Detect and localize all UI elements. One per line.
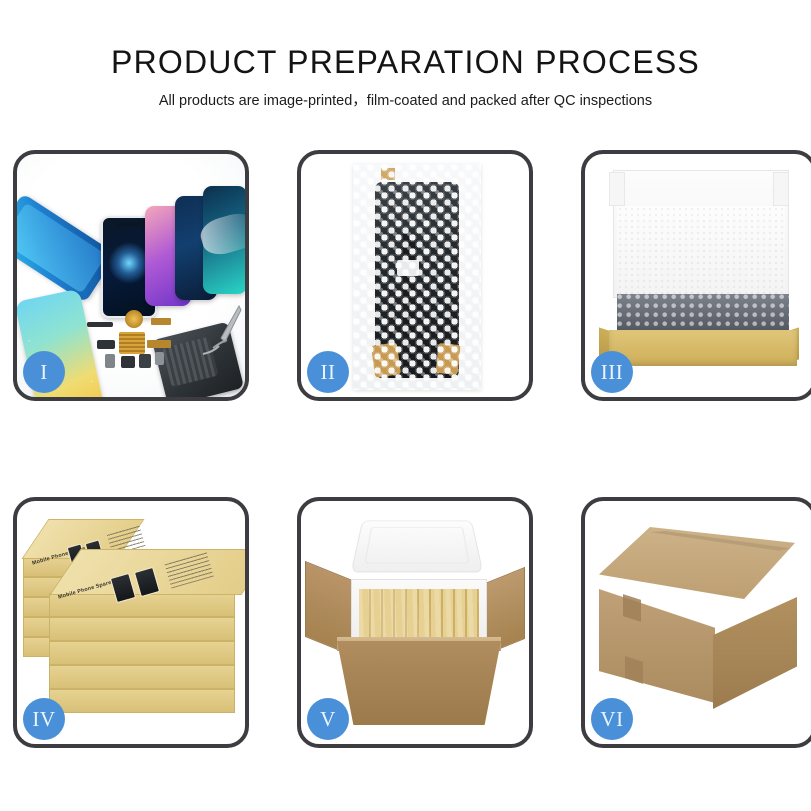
earpiece-mesh-icon: [87, 322, 113, 327]
carton-side-face: [713, 597, 797, 709]
gold-box-front-2: [49, 617, 235, 641]
process-steps-grid: I II: [13, 150, 801, 748]
bubble-wrapped-contents: [617, 294, 789, 334]
tweezers-icon: [199, 304, 243, 360]
step-badge-4: IV: [23, 698, 65, 740]
gold-boxes-highlight: [359, 589, 479, 641]
speaker-coil-icon: [125, 310, 143, 328]
step-badge-5: V: [307, 698, 349, 740]
carton-body: [337, 641, 501, 725]
header: PRODUCT PREPARATION PROCESS All products…: [0, 0, 811, 110]
camera-module-icon: [121, 356, 135, 368]
box-lid-flap-right: [773, 172, 789, 206]
foam-insert: [617, 206, 785, 294]
battery-connector-icon: [155, 352, 164, 365]
product-preparation-infographic: PRODUCT PREPARATION PROCESS All products…: [0, 0, 811, 811]
step-badge-2: II: [307, 351, 349, 393]
step-badge-1: I: [23, 351, 65, 393]
step-badge-3: III: [591, 351, 633, 393]
flex-connector-icon: [147, 340, 171, 348]
sim-tray-icon: [105, 354, 115, 368]
step-panel-6: VI: [581, 497, 811, 748]
small-module-icon: [97, 340, 115, 349]
ic-chip-array-icon: [119, 332, 145, 354]
gold-box-front-3: [49, 641, 235, 665]
step-panel-1: I: [13, 150, 249, 401]
gold-box-front-4: [49, 665, 235, 689]
page-subtitle: All products are image-printed，film-coat…: [0, 92, 811, 110]
box-lid-flap-left: [609, 172, 625, 206]
step-badge-6: VI: [591, 698, 633, 740]
bubble-wrap-bag: [353, 164, 481, 390]
step-panel-5: V: [297, 497, 533, 748]
step-panel-2: II: [297, 150, 533, 401]
vibrator-motor-icon: [139, 354, 151, 368]
flex-cable-icon: [151, 318, 171, 325]
step-panel-4: Mobile Phone Spare Parts Mobile Phone Sp…: [13, 497, 249, 748]
gold-box-front-5: [49, 689, 235, 713]
teal-gradient-phone-icon: [203, 186, 245, 294]
carton-tape-lower: [625, 656, 643, 684]
carton-front-face: [599, 589, 715, 703]
foam-box-lid: [351, 521, 484, 573]
step-panel-3: III: [581, 150, 811, 401]
box-tray-front: [609, 330, 797, 366]
bubble-texture-overlay: [353, 164, 481, 390]
page-title: PRODUCT PREPARATION PROCESS: [0, 44, 811, 80]
